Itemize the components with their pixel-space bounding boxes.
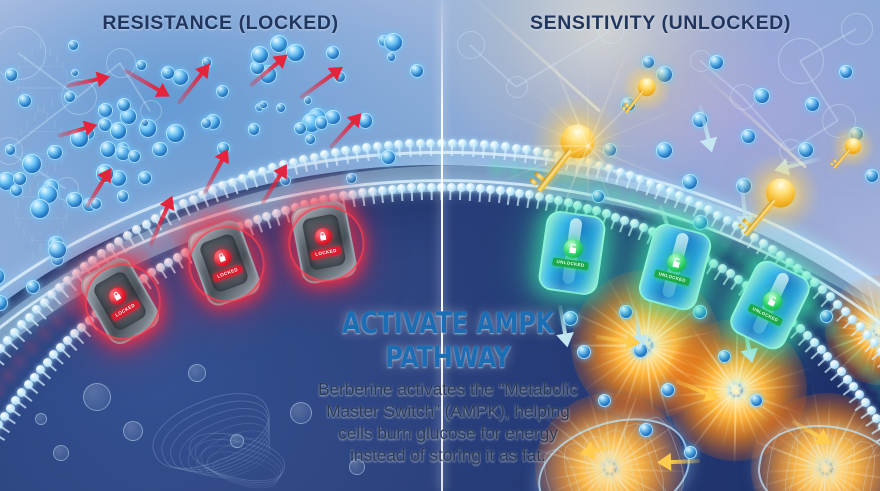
receptor-unlocked-body-1[interactable]: UNLOCKED	[537, 209, 608, 297]
receptor-unlocked-1[interactable]: UNLOCKED	[537, 209, 608, 297]
center-title: ACTIVATE AMPK PATHWAY	[282, 306, 613, 374]
locked-alert-ring-3	[282, 199, 371, 288]
locked-alert-ring-1	[71, 250, 175, 354]
center-body-line-2: Master Switch” (AMPK), helping	[268, 401, 628, 423]
receptor-locked-3[interactable]: LOCKED	[289, 198, 359, 285]
closed-padlock-icon	[105, 284, 128, 307]
open-padlock-icon	[562, 237, 583, 258]
open-padlock-icon	[665, 251, 688, 274]
background-wash-left	[0, 0, 480, 300]
receptor-locked-screen-1: LOCKED	[91, 269, 148, 332]
receptor-channel-slot-1	[562, 218, 583, 285]
receptor-unlocked-body-3[interactable]: UNLOCKED	[726, 256, 815, 354]
receptor-unlocked-2[interactable]: UNLOCKED	[636, 221, 715, 314]
header-right: SENSITIVITY (UNLOCKED)	[441, 12, 880, 35]
closed-padlock-icon	[211, 246, 233, 268]
receptor-unlocked-label-1: UNLOCKED	[552, 257, 589, 270]
header-left: RESISTANCE (LOCKED)	[0, 12, 441, 35]
receptor-unlocked-label-3: UNLOCKED	[747, 303, 783, 326]
receptor-locked-2[interactable]: LOCKED	[184, 217, 263, 309]
receptor-locked-body-2[interactable]: LOCKED	[184, 217, 263, 309]
receptor-locked-1[interactable]: LOCKED	[76, 253, 163, 349]
receptor-locked-label-2: LOCKED	[212, 264, 243, 282]
center-body-line-3: cells burn glucose for energy	[268, 423, 628, 445]
receptor-locked-body-3[interactable]: LOCKED	[289, 198, 359, 285]
receptor-unlocked-body-2[interactable]: UNLOCKED	[636, 221, 715, 314]
infographic-canvas: LOCKED LOCKED	[0, 0, 880, 491]
receptor-unlocked-3[interactable]: UNLOCKED	[726, 256, 815, 354]
open-padlock-icon	[759, 288, 784, 313]
receptor-locked-screen-2: LOCKED	[198, 232, 250, 293]
receptor-locked-label-3: LOCKED	[311, 246, 342, 260]
receptor-channel-slot-3	[751, 271, 791, 336]
receptor-unlocked-label-2: UNLOCKED	[654, 269, 691, 286]
receptor-channel-slot-2	[661, 232, 690, 299]
receptor-locked-screen-3: LOCKED	[301, 213, 346, 271]
background-wash-right	[420, 0, 880, 300]
center-message-block: ACTIVATE AMPK PATHWAY Berberine activate…	[268, 306, 628, 466]
locked-alert-ring-2	[178, 215, 275, 312]
receptor-locked-label-1: LOCKED	[110, 299, 140, 321]
center-body: Berberine activates the “Metabolic Maste…	[268, 379, 628, 466]
receptor-locked-body-1[interactable]: LOCKED	[76, 253, 163, 349]
closed-padlock-icon	[313, 226, 333, 246]
center-body-line-4: instead of storing it as fat.	[268, 445, 628, 467]
center-body-line-1: Berberine activates the “Metabolic	[268, 379, 628, 401]
